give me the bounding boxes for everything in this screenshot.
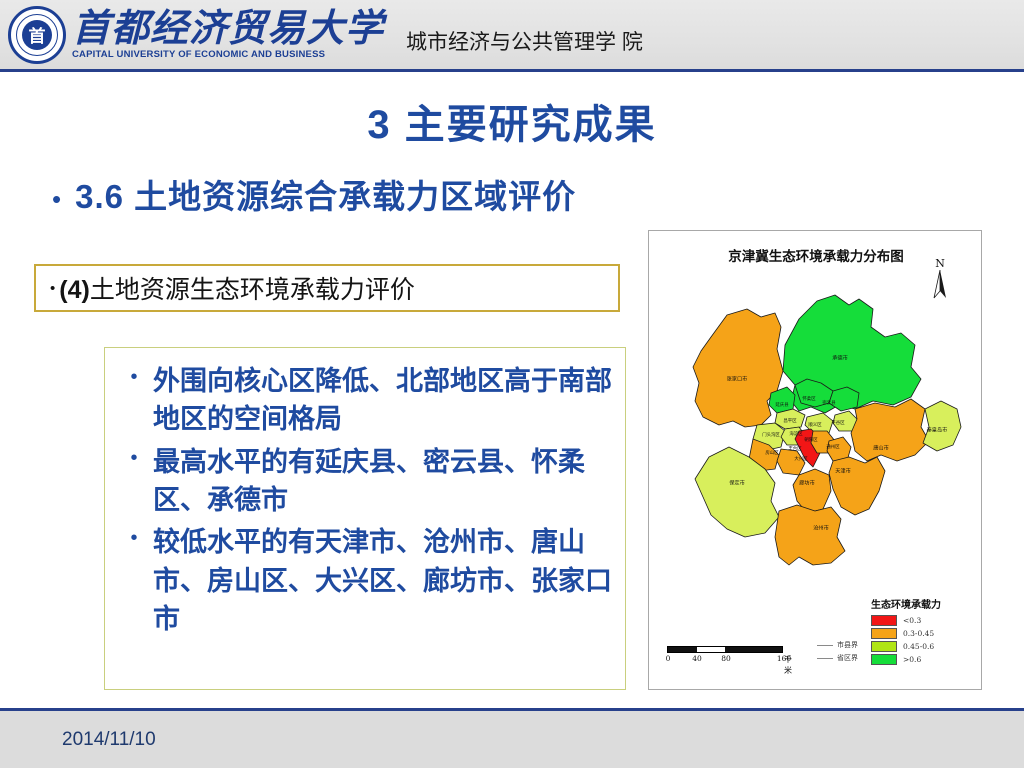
region-daxing (777, 449, 805, 475)
region-zhangjiakou (693, 309, 783, 427)
list-item: • 最高水平的有延庆县、密云县、怀柔区、承德市 (115, 443, 613, 520)
list-bullet-icon: • (115, 443, 153, 474)
value-legend-row: >0.6 (871, 654, 941, 665)
map-region-label: 天津市 (835, 468, 851, 475)
findings-box: • 外围向核心区降低、北部地区高于南部地区的空间格局 • 最高水平的有延庆县、密… (104, 347, 626, 690)
list-bullet-icon: • (115, 523, 153, 554)
map-region-label: 秦皇岛市 (927, 427, 948, 434)
map-region-label: 大兴区 (794, 456, 807, 462)
value-legend-label: 0.45-0.6 (903, 642, 934, 651)
map-region-label: 沧州市 (813, 525, 829, 532)
value-legend-row: 0.3-0.45 (871, 628, 941, 639)
slide-subtitle: 3.6 土地资源综合承载力区域评价 (75, 170, 576, 218)
boundary-legend-label: 省区界 (837, 653, 858, 663)
map-region-label: 张家口市 (727, 376, 748, 383)
map-region-label: 海淀区 (789, 431, 802, 437)
eval-bullet-icon: • (50, 280, 55, 297)
slide-header: 首 首都经济贸易大学 CAPITAL UNIVERSITY OF ECONOMI… (0, 0, 1024, 72)
map-region-label: 延庆县 (775, 402, 788, 408)
list-item: • 外围向核心区降低、北部地区高于南部地区的空间格局 (115, 362, 613, 439)
map-region-label: 顺义区 (808, 422, 821, 428)
seal-glyph: 首 (22, 20, 52, 50)
list-item-text: 最高水平的有延庆县、密云县、怀柔区、承德市 (153, 443, 613, 520)
scale-tick: 40 (692, 654, 702, 663)
college-name: 城市经济与公共管理学 院 (406, 14, 643, 56)
boundary-legend-label: 市县界 (837, 640, 858, 650)
value-legend-title: 生态环境承载力 (871, 596, 941, 611)
value-legend-row: 0.45-0.6 (871, 641, 941, 652)
region-tangshan (851, 399, 929, 461)
boundary-legend: 市县界 省区界 (817, 640, 858, 666)
slide-footer: 2014/11/10 (0, 708, 1024, 768)
subtitle-bullet-icon: • (52, 184, 61, 215)
list-item: • 较低水平的有天津市、沧州市、唐山市、房山区、大兴区、廊坊市、张家口市 (115, 523, 613, 638)
map-region-label: 朝阳区 (804, 437, 817, 443)
eval-box-text: (4)土地资源生态环境承载力评价 (59, 270, 415, 306)
map-region-label: 承德市 (832, 355, 848, 362)
map-region-label: 丰台区 (788, 446, 801, 452)
page-title: 3 主要研究成果 (0, 92, 1024, 150)
value-legend: 生态环境承载力 <0.30.3-0.450.45-0.6>0.6 (871, 596, 941, 667)
map-region-label: 昌平区 (783, 418, 796, 424)
map-region-label: 唐山市 (873, 445, 889, 452)
value-legend-label: 0.3-0.45 (903, 629, 934, 638)
scale-tick: 80 (721, 654, 731, 663)
value-legend-label: <0.3 (903, 616, 921, 625)
value-legend-row: <0.3 (871, 615, 941, 626)
slide-subtitle-row: • 3.6 土地资源综合承载力区域评价 (52, 170, 892, 218)
region-cangzhou (775, 505, 845, 565)
boundary-line-icon (817, 645, 833, 646)
university-name-cn: 首都经济贸易大学 (72, 9, 384, 47)
boundary-legend-row: 省区界 (817, 653, 858, 663)
eval-box-body: 土地资源生态环境承载力评价 (90, 276, 415, 304)
boundary-legend-row: 市县界 (817, 640, 858, 650)
north-label: N (927, 257, 953, 270)
scale-bar-graphic (667, 646, 783, 653)
value-legend-swatch (871, 628, 897, 639)
value-legend-label: >0.6 (903, 655, 921, 664)
eval-box-prefix: (4) (59, 276, 90, 304)
list-item-text: 较低水平的有天津市、沧州市、唐山市、房山区、大兴区、廊坊市、张家口市 (153, 523, 613, 638)
scale-tick: 0 (666, 654, 671, 663)
map-region-label: 廊坊市 (799, 480, 815, 487)
scale-bar-ticks: 0 40 80 160 千米 (667, 654, 799, 666)
evaluation-callout-box: • (4)土地资源生态环境承载力评价 (34, 264, 620, 312)
value-legend-swatch (871, 615, 897, 626)
map-region-label: 平谷区 (831, 420, 844, 426)
map-scale-bar: 0 40 80 160 千米 (667, 646, 799, 666)
map-region-label: 房山区 (765, 450, 778, 456)
map-region-label: 通州区 (826, 444, 839, 450)
map-region-label: 密云县 (822, 400, 835, 406)
map-region-label: 门头沟区 (762, 432, 780, 438)
scale-unit: 千米 (784, 654, 794, 676)
list-item-text: 外围向核心区降低、北部地区高于南部地区的空间格局 (153, 362, 613, 439)
value-legend-swatch (871, 654, 897, 665)
map-figure: 京津冀生态环境承载力分布图 N (648, 230, 982, 690)
value-legend-swatch (871, 641, 897, 652)
map-region-label: 怀柔区 (802, 396, 815, 402)
boundary-line-icon (817, 658, 833, 659)
university-seal-icon: 首 (8, 6, 66, 64)
university-name-en: CAPITAL UNIVERSITY OF ECONOMIC AND BUSIN… (72, 50, 384, 60)
list-bullet-icon: • (115, 362, 153, 393)
map-region-label: 保定市 (729, 480, 745, 487)
footer-date: 2014/11/10 (62, 729, 156, 751)
region-tianjin (829, 457, 885, 515)
university-logo: 首 首都经济贸易大学 CAPITAL UNIVERSITY OF ECONOMI… (0, 6, 384, 64)
